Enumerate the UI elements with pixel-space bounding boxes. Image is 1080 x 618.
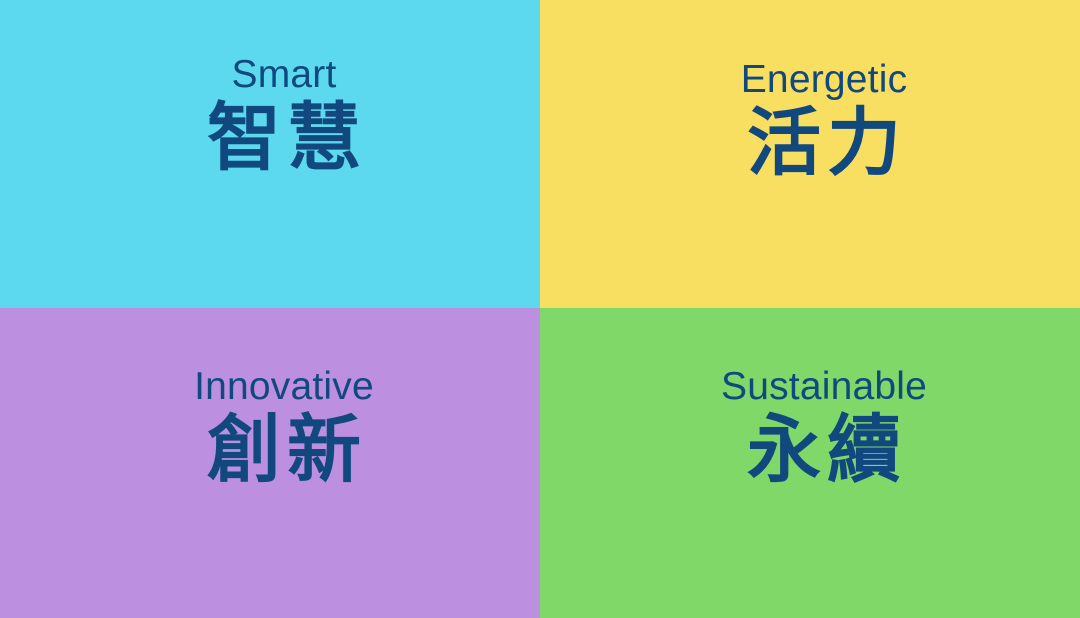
quadrant-smart-label-zh: 智慧 xyxy=(201,100,367,178)
quadrant-smart: Smart 智慧 xyxy=(0,0,540,308)
quadrant-sustainable-label-en: Sustainable xyxy=(721,367,927,406)
quadrant-innovative-text-block: Innovative 創新 xyxy=(194,367,374,490)
quadrant-energetic-label-en: Energetic xyxy=(741,60,908,99)
quadrant-innovative-label-zh: 創新 xyxy=(201,412,367,490)
quadrant-energetic-text-block: Energetic 活力 xyxy=(741,60,908,183)
quadrant-innovative: Innovative 創新 xyxy=(0,308,540,618)
quadrant-sustainable-label-zh: 永續 xyxy=(741,412,907,490)
quadrant-sustainable-text-block: Sustainable 永續 xyxy=(721,367,927,490)
quadrant-smart-label-en: Smart xyxy=(231,55,336,94)
quadrant-smart-text-block: Smart 智慧 xyxy=(201,55,367,178)
quadrant-energetic: Energetic 活力 xyxy=(540,0,1080,308)
quadrant-innovative-label-en: Innovative xyxy=(194,367,374,406)
quadrant-energetic-label-zh: 活力 xyxy=(741,105,907,183)
brand-values-poster: Smart 智慧 Energetic 活力 Innovative 創新 Sust… xyxy=(0,0,1080,618)
quadrant-sustainable: Sustainable 永續 xyxy=(540,308,1080,618)
